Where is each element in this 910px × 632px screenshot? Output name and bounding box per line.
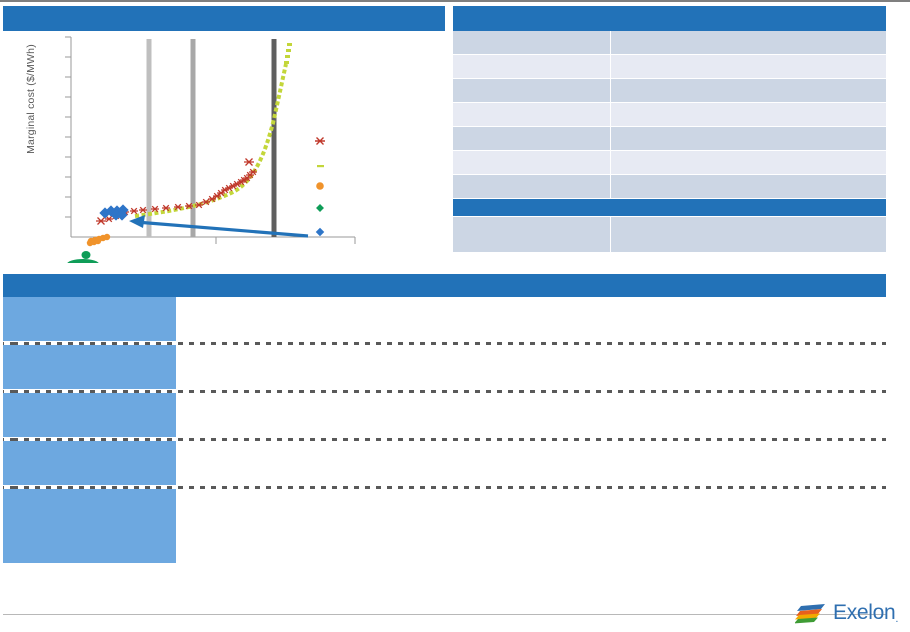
table-cell [453, 127, 611, 151]
exelon-logo: Exelon . [795, 598, 903, 628]
series-orange-circle [87, 234, 110, 246]
list-item-label [3, 345, 176, 389]
slide-page: Marginal cost ($/MWh) [0, 0, 910, 632]
table-row[interactable] [453, 31, 886, 55]
reference-lines [149, 39, 274, 237]
exelon-swoosh-icon [795, 601, 829, 625]
bottom-list [3, 297, 886, 563]
list-item-body [176, 489, 886, 563]
table-cell [453, 55, 611, 79]
table-row[interactable] [453, 103, 886, 127]
chart-title-bar [3, 6, 445, 31]
table-row[interactable] [453, 79, 886, 103]
table-title-bar [453, 6, 886, 31]
table-row[interactable] [453, 151, 886, 175]
series-green-diamond [67, 251, 99, 263]
list-item-label [3, 393, 176, 437]
chart-legend [315, 138, 325, 237]
table-cell [611, 151, 886, 175]
table-cell [611, 175, 886, 199]
annotation-arrow [129, 215, 308, 236]
legend-marker-circle [316, 182, 324, 190]
legend-marker-green-diamond [316, 204, 324, 212]
list-item[interactable] [3, 345, 886, 389]
table-cell [611, 31, 886, 55]
bottom-title-bar [3, 274, 886, 297]
list-item[interactable] [3, 441, 886, 485]
table-cell [453, 103, 611, 127]
legend-marker-blue-diamond [316, 228, 324, 236]
legend-marker-dash [317, 165, 324, 167]
list-item-label [3, 441, 176, 485]
table-total-row[interactable] [453, 217, 886, 253]
table-row[interactable] [453, 55, 886, 79]
table-cell [611, 79, 886, 103]
table-cell [611, 127, 886, 151]
table-cell [453, 31, 611, 55]
table-cell [611, 217, 886, 253]
table-cell [611, 103, 886, 127]
list-item[interactable] [3, 489, 886, 563]
table-row[interactable] [453, 127, 886, 151]
list-item-body [176, 393, 886, 437]
footer-divider [3, 614, 886, 615]
list-item-label [3, 297, 176, 341]
marginal-cost-chart: Marginal cost ($/MWh) [3, 31, 445, 263]
series-yellow-dash-tail [284, 43, 292, 64]
table-cell [453, 79, 611, 103]
list-item[interactable] [3, 393, 886, 437]
table-cell [453, 175, 611, 199]
list-item[interactable] [3, 297, 886, 341]
top-divider [0, 0, 910, 2]
list-item-body [176, 345, 886, 389]
legend-marker-asterisk [315, 138, 325, 145]
table-row[interactable] [453, 175, 886, 199]
table-cell [611, 55, 886, 79]
table-subheader-bar [453, 199, 886, 217]
exelon-wordmark: Exelon [833, 601, 895, 625]
list-item-body [176, 297, 886, 341]
exelon-trademark: . [895, 613, 898, 625]
list-item-label [3, 489, 176, 563]
list-item-body [176, 441, 886, 485]
chart-canvas [3, 31, 445, 263]
table-cell [453, 217, 611, 253]
series-yellow-dash [135, 64, 286, 216]
table-cell [453, 151, 611, 175]
data-table [453, 31, 886, 253]
